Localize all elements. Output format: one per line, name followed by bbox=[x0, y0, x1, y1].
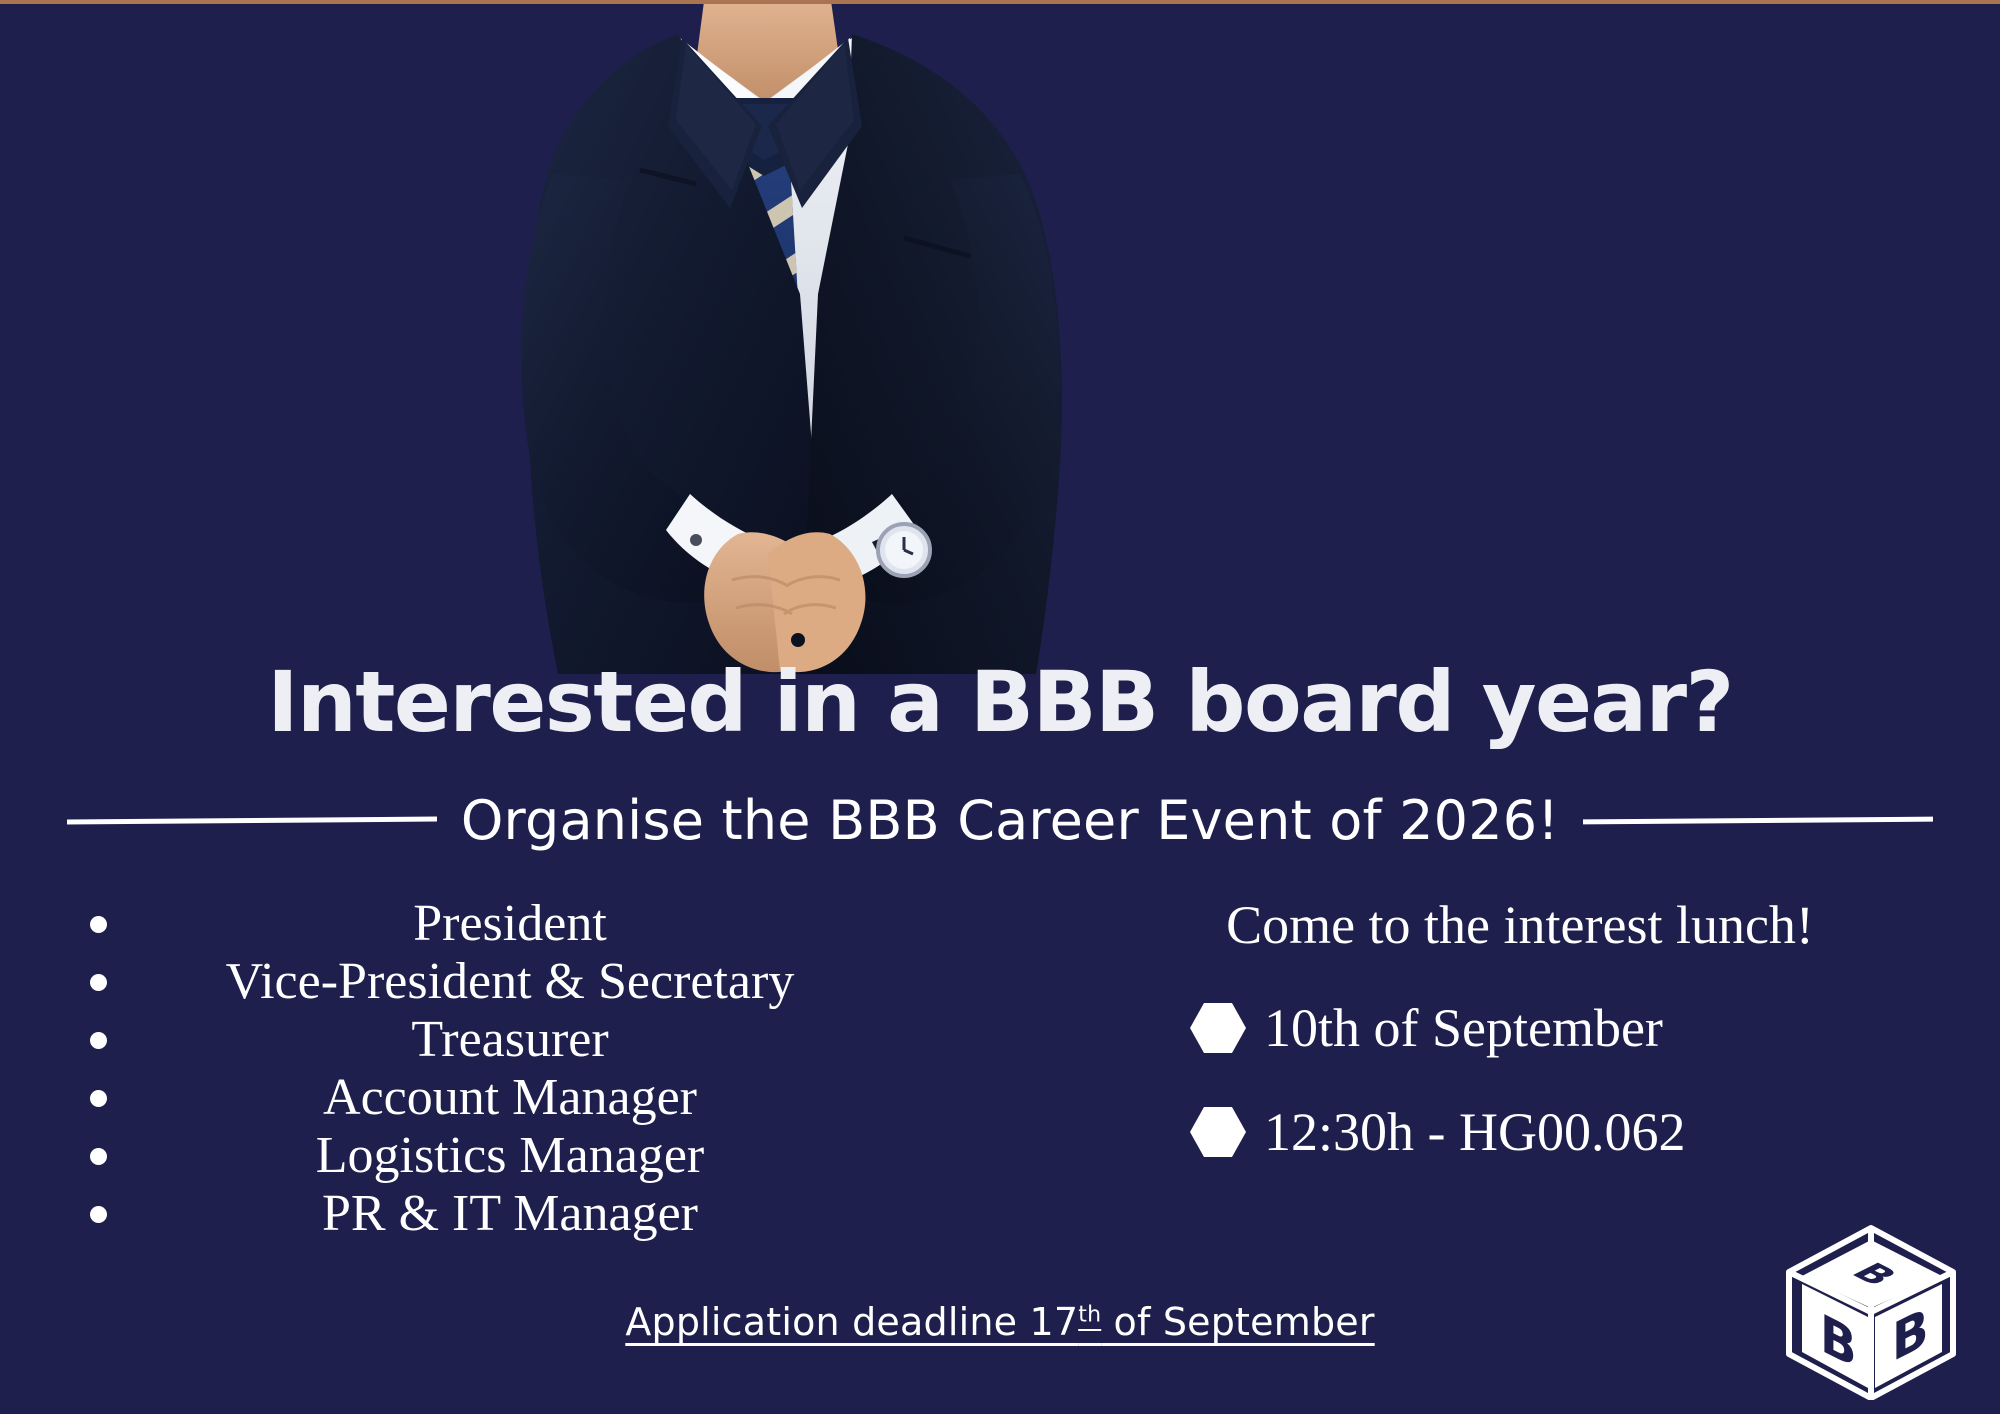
list-item: Account Manager bbox=[60, 1069, 960, 1127]
deadline-prefix: Application deadline 17 bbox=[625, 1300, 1078, 1344]
roles-list: President Vice-President & Secretary Tre… bbox=[60, 895, 960, 1243]
subtitle: Organise the BBB Career Event of 2026! bbox=[461, 789, 1559, 852]
role-label: President bbox=[413, 895, 607, 952]
bbb-cube-logo: B B B bbox=[1776, 1220, 1966, 1400]
lunch-detail-time-location: 12:30h - HG00.062 bbox=[1080, 1101, 1960, 1163]
role-label: Vice-President & Secretary bbox=[226, 953, 795, 1010]
role-label: Treasurer bbox=[411, 1011, 608, 1068]
poster-canvas: Interested in a BBB board year? Organise… bbox=[0, 0, 2000, 1414]
list-item: Treasurer bbox=[60, 1011, 960, 1069]
list-item: PR & IT Manager bbox=[60, 1185, 960, 1243]
bullet-icon bbox=[90, 1032, 107, 1049]
list-item: President bbox=[60, 895, 960, 953]
subtitle-row: Organise the BBB Career Event of 2026! bbox=[0, 780, 2000, 860]
page-title: Interested in a BBB board year? bbox=[0, 660, 2000, 744]
deadline-row: Application deadline 17th of September bbox=[0, 1300, 2000, 1344]
application-deadline: Application deadline 17th of September bbox=[625, 1300, 1374, 1344]
hexagon-bullet-icon bbox=[1190, 1003, 1246, 1053]
deadline-suffix: of September bbox=[1101, 1300, 1374, 1344]
list-item: Logistics Manager bbox=[60, 1127, 960, 1185]
bullet-icon bbox=[90, 1090, 107, 1107]
content-columns: President Vice-President & Secretary Tre… bbox=[0, 895, 2000, 1295]
divider-line-right bbox=[1583, 816, 1933, 824]
list-item: Vice-President & Secretary bbox=[60, 953, 960, 1011]
role-label: Logistics Manager bbox=[316, 1127, 704, 1184]
bullet-icon bbox=[90, 1206, 107, 1223]
top-edge-rule bbox=[0, 0, 2000, 4]
lunch-date-label: 10th of September bbox=[1264, 997, 1663, 1059]
lunch-title: Come to the interest lunch! bbox=[1080, 895, 1960, 955]
lunch-info: Come to the interest lunch! 10th of Sept… bbox=[1080, 895, 1960, 1163]
bullet-icon bbox=[90, 974, 107, 991]
deadline-ordinal: th bbox=[1078, 1302, 1101, 1327]
suit-photo-illustration bbox=[500, 0, 1500, 674]
lunch-time-location-label: 12:30h - HG00.062 bbox=[1264, 1101, 1685, 1163]
bullet-icon bbox=[90, 1148, 107, 1165]
divider-line-left bbox=[67, 816, 437, 824]
suit-photo bbox=[500, 0, 1500, 674]
hexagon-bullet-icon bbox=[1190, 1107, 1246, 1157]
role-label: PR & IT Manager bbox=[322, 1185, 698, 1242]
bullet-icon bbox=[90, 916, 107, 933]
bbb-cube-logo-icon: B B B bbox=[1776, 1220, 1966, 1400]
lunch-detail-date: 10th of September bbox=[1080, 997, 1960, 1059]
role-label: Account Manager bbox=[323, 1069, 697, 1126]
